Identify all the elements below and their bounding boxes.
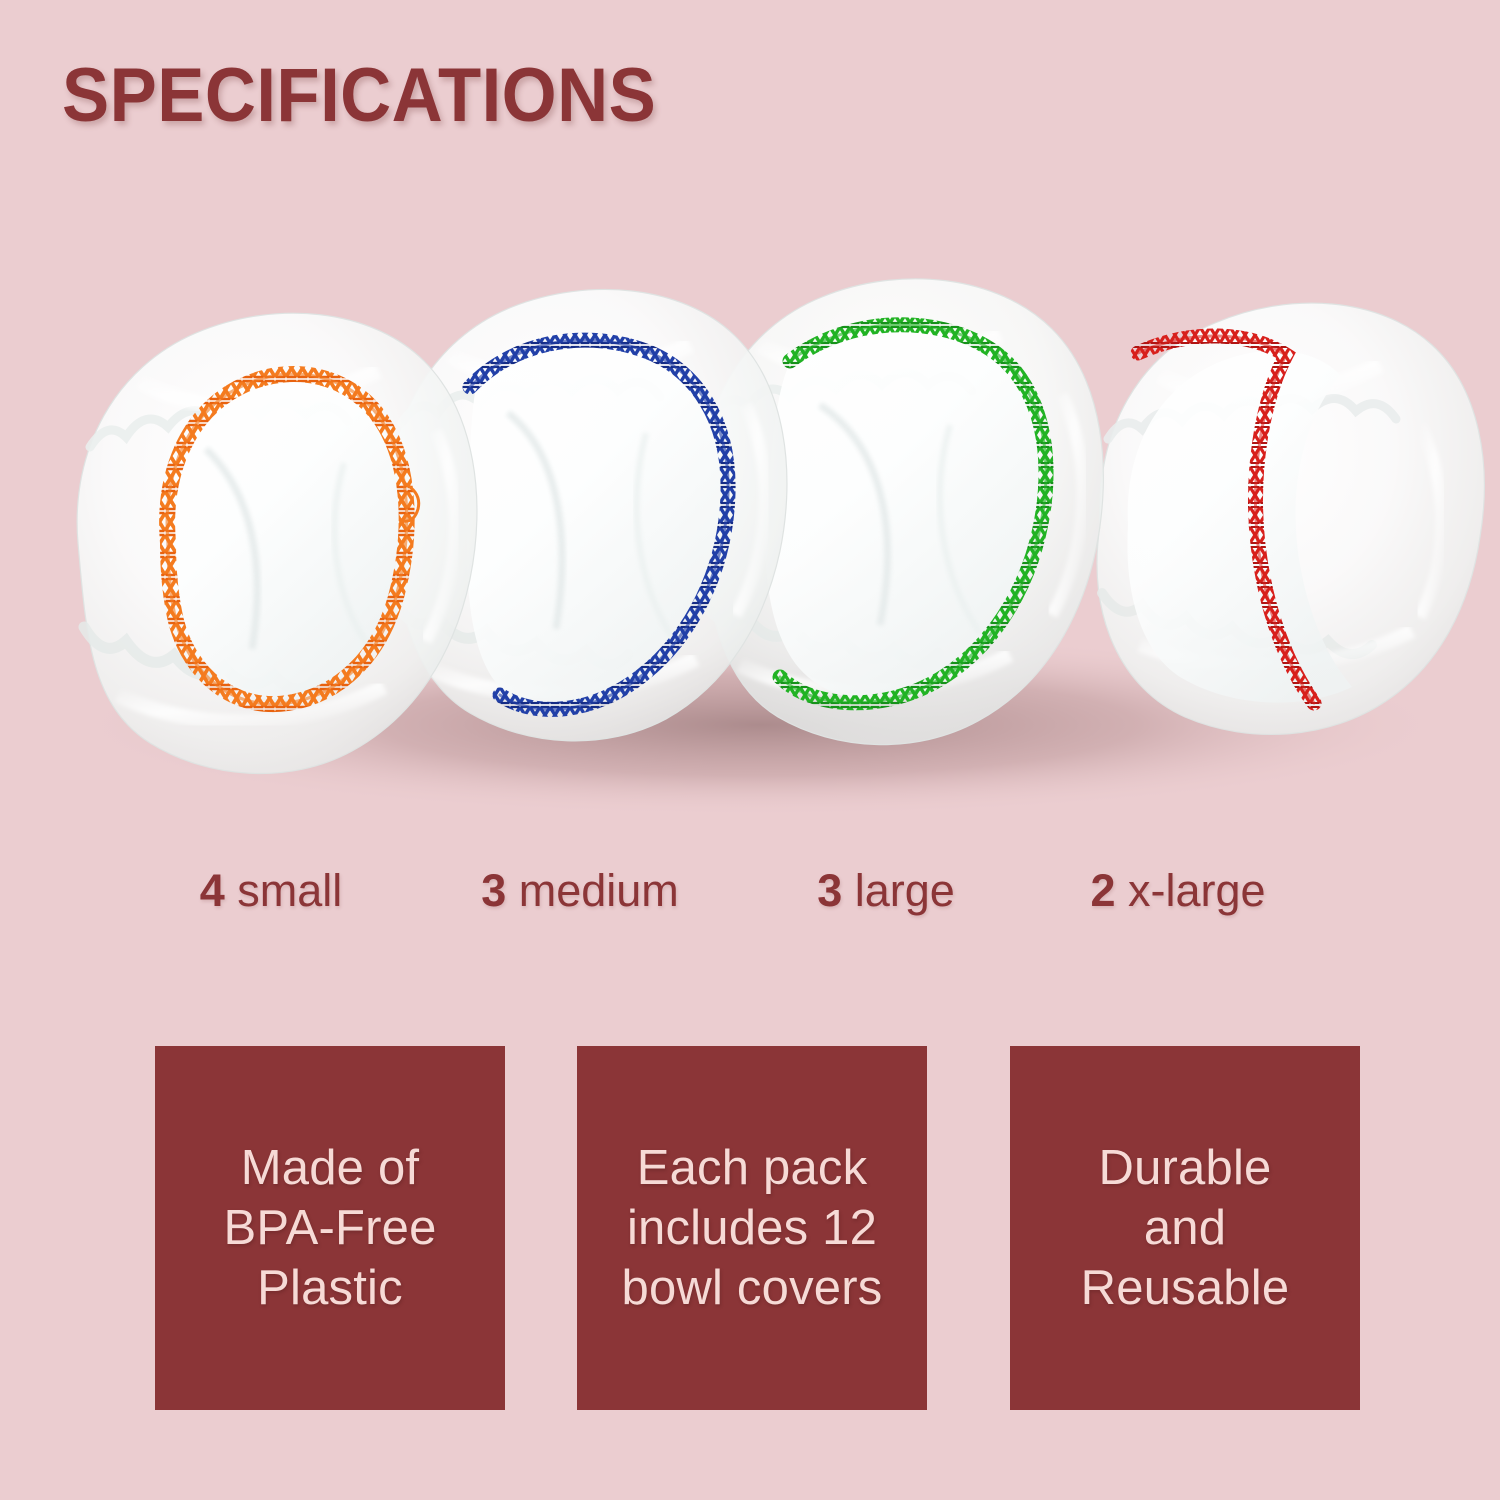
size-qty-xlarge: 2	[1090, 865, 1115, 916]
specifications-infographic: SPECIFICATIONS	[0, 0, 1500, 1500]
size-qty-small: 4	[200, 865, 225, 916]
page-title: SPECIFICATIONS	[62, 58, 656, 134]
size-qty-large: 3	[817, 865, 842, 916]
size-word-xlarge: x-large	[1115, 865, 1265, 916]
feature-box-quantity: Each pack includes 12 bowl covers	[577, 1046, 927, 1410]
size-label-small: 4 small	[140, 858, 402, 924]
size-word-large: large	[842, 865, 955, 916]
feature-box-durability: Durable and Reusable	[1010, 1046, 1360, 1410]
feature-box-durability-text: Durable and Reusable	[1081, 1138, 1290, 1318]
feature-box-material: Made of BPA-Free Plastic	[155, 1046, 505, 1410]
feature-box-material-text: Made of BPA-Free Plastic	[223, 1138, 436, 1318]
size-qty-medium: 3	[481, 865, 506, 916]
product-image	[0, 225, 1500, 825]
size-label-row: 4 small 3 medium 3 large 2 x-large	[0, 858, 1500, 924]
size-label-medium: 3 medium	[430, 858, 730, 924]
bowl-cover-xlarge	[1097, 303, 1484, 734]
feature-box-row: Made of BPA-Free Plastic Each pack inclu…	[155, 1046, 1360, 1410]
size-word-small: small	[225, 865, 343, 916]
feature-box-quantity-text: Each pack includes 12 bowl covers	[622, 1138, 883, 1318]
size-word-medium: medium	[506, 865, 679, 916]
size-label-large: 3 large	[760, 858, 1012, 924]
size-label-xlarge: 2 x-large	[1040, 858, 1316, 924]
